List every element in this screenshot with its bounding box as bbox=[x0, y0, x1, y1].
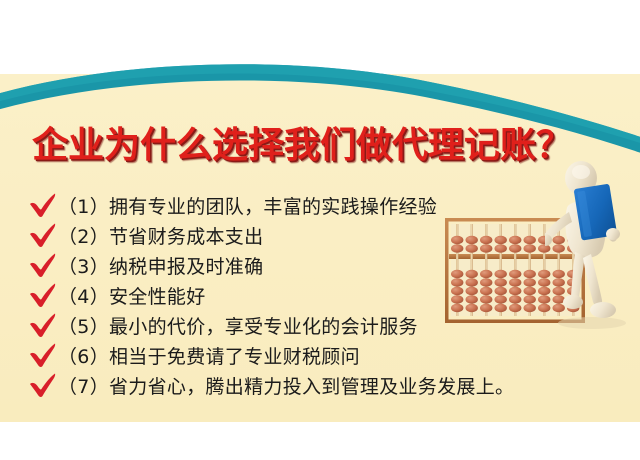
check-icon bbox=[28, 252, 58, 278]
accountant-with-abacus-illustration bbox=[440, 160, 640, 340]
list-item-label: （6）相当于免费请了专业财税顾问 bbox=[58, 344, 360, 370]
check-icon bbox=[28, 312, 58, 338]
list-item-label: （7）省力省心，腾出精力投入到管理及业务发展上。 bbox=[58, 374, 514, 400]
check-icon bbox=[28, 192, 58, 218]
list-item-label: （1）拥有专业的团队，丰富的实践操作经验 bbox=[58, 194, 437, 220]
list-item-label: （4）安全性能好 bbox=[58, 284, 206, 310]
list-item: （7）省力省心，腾出精力投入到管理及业务发展上。 bbox=[28, 372, 528, 402]
list-item: （6）相当于免费请了专业财税顾问 bbox=[28, 342, 528, 372]
check-icon bbox=[28, 282, 58, 308]
check-icon bbox=[28, 372, 58, 398]
list-item-label: （5）最小的代价，享受专业化的会计服务 bbox=[58, 314, 418, 340]
list-item-label: （3）纳税申报及时准确 bbox=[58, 254, 263, 280]
check-icon bbox=[28, 342, 58, 368]
top-white-band bbox=[0, 0, 640, 74]
3d-person-figure-icon bbox=[545, 160, 640, 330]
check-icon bbox=[28, 222, 58, 248]
list-item-label: （2）节省财务成本支出 bbox=[58, 224, 263, 250]
poster-canvas: 企业为什么选择我们做代理记账？ （1）拥有专业的团队，丰富的实践操作经验 （2）… bbox=[0, 0, 640, 460]
